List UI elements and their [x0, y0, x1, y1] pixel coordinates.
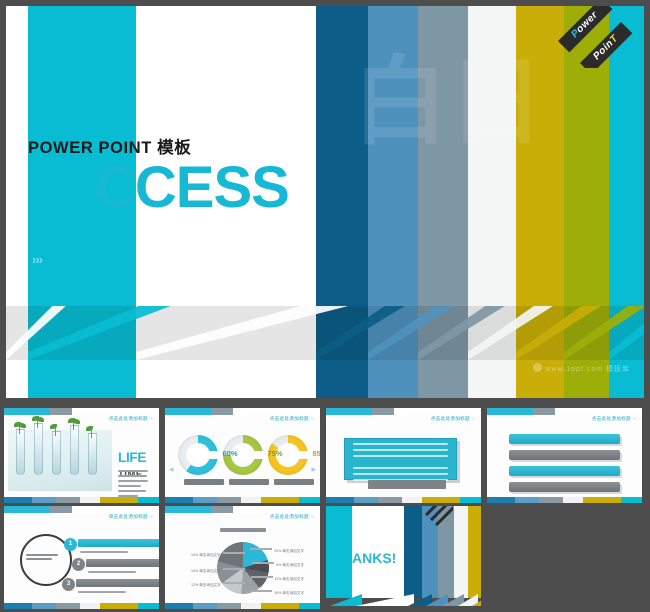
- floor-segment: [136, 360, 316, 398]
- step-bar-2[interactable]: [86, 559, 159, 567]
- strip-segment: [80, 603, 101, 609]
- hero-headline: CCESS: [94, 154, 289, 221]
- thumb-footer-strip: [4, 497, 159, 503]
- thumbnail-gauges[interactable]: 点击此处添加标题››› ◂ ▸ 60% 75%: [165, 408, 320, 503]
- thumbnail-bars[interactable]: 点击此处添加标题›››: [487, 408, 642, 503]
- textbox-line: [353, 473, 448, 475]
- thanks-floor: [326, 592, 481, 606]
- strip-segment: [72, 408, 159, 415]
- thumb-header-label: 点击此处添加标题›››: [109, 416, 153, 422]
- thumb-body: [487, 424, 642, 495]
- strip-segment: [4, 497, 32, 503]
- strip-segment: [217, 603, 241, 609]
- strip-segment: [32, 497, 56, 503]
- thanks-stripe: [326, 506, 352, 598]
- strip-segment: [50, 506, 72, 513]
- thumb-body: LIFE TIME: [4, 424, 159, 495]
- strip-segment: [460, 497, 481, 503]
- thumb-top-strip: [4, 506, 159, 513]
- step-subtext-2: [88, 571, 136, 573]
- thumb-header-label: 点击此处添加标题›››: [270, 416, 314, 422]
- step-number-2: 2: [72, 558, 85, 571]
- strip-segment: [138, 603, 159, 609]
- strip-segment: [515, 497, 539, 503]
- strip-segment: [299, 603, 320, 609]
- thumb-footer-strip: [4, 603, 159, 609]
- pie-legend-item: 12% 单击添加文字: [191, 582, 247, 588]
- textbox-line: [353, 443, 448, 445]
- gauge-label: [184, 479, 224, 485]
- strip-segment: [80, 497, 101, 503]
- thanks-floor-seg: [356, 594, 414, 606]
- strip-segment: [282, 497, 299, 503]
- strip-segment: [138, 497, 159, 503]
- thanks-stripe: [468, 506, 481, 598]
- strip-segment: [241, 603, 262, 609]
- strip-segment: [32, 603, 56, 609]
- thumb-footer-strip: [326, 497, 481, 503]
- strip-segment: [165, 408, 211, 415]
- pie-legend-item: 14% 单击添加文字: [191, 568, 247, 574]
- watermark-dot-icon: [533, 363, 542, 372]
- strip-segment: [233, 506, 320, 513]
- thumbnail-steps[interactable]: 单击此处添加标题››› 1 2 3: [4, 506, 159, 609]
- strip-segment: [402, 497, 423, 503]
- thumb-top-strip: [165, 506, 320, 513]
- gauge-percent: 60%: [222, 449, 237, 458]
- floor-segment: [418, 360, 468, 398]
- chevron-right-icon: ›››: [32, 252, 42, 267]
- strip-segment: [282, 603, 299, 609]
- strip-segment: [555, 408, 642, 415]
- strip-segment: [211, 408, 233, 415]
- strip-segment: [121, 603, 138, 609]
- thumbnail-textbox[interactable]: 点击此处添加标题›››: [326, 408, 481, 503]
- gauge-label: [229, 479, 269, 485]
- floor-segment: [316, 360, 368, 398]
- step-bar-1[interactable]: [78, 539, 159, 547]
- strip-segment: [372, 408, 394, 415]
- add-content-button[interactable]: [368, 480, 446, 489]
- thumb-top-strip: [4, 408, 159, 415]
- strip-segment: [241, 497, 262, 503]
- thumb-top-strip: [487, 408, 642, 415]
- strip-segment: [4, 506, 50, 513]
- main-slide-preview[interactable]: 白日 POWER POINT 模板 CCESS ››› Power PoinT …: [6, 6, 644, 398]
- strip-segment: [56, 603, 80, 609]
- perspective-floor: [6, 306, 644, 398]
- powerpoint-badge: Power PoinT: [552, 6, 644, 68]
- thanks-floor-seg: [330, 594, 362, 606]
- strip-segment: [443, 497, 460, 503]
- gauge-item: 75%: [223, 435, 263, 485]
- strip-segment: [533, 408, 555, 415]
- content-textbox[interactable]: [344, 438, 457, 480]
- slide-preview-page: 白日 POWER POINT 模板 CCESS ››› Power PoinT …: [0, 0, 650, 612]
- strip-segment: [100, 497, 121, 503]
- strip-segment: [211, 506, 233, 513]
- strip-segment: [354, 497, 378, 503]
- thumb-header-label: 点击此处添加标题›››: [431, 416, 475, 422]
- thumb-top-strip: [165, 408, 320, 415]
- thanks-stripe: [404, 506, 422, 598]
- strip-segment: [72, 506, 159, 513]
- strip-segment: [50, 408, 72, 415]
- thumb-body: 14% 单击添加文字 14% 单击添加文字 12% 单击添加文字 20% 单击添…: [165, 522, 320, 601]
- site-watermark: www.1ppt.com 模板库: [533, 363, 630, 374]
- bar-item[interactable]: [509, 434, 620, 444]
- thumbnail-grid: 点击此处添加标题››› LIFE TIME: [0, 404, 650, 612]
- strip-segment: [4, 408, 50, 415]
- thumb-header-label: 点击此处添加标题›››: [592, 416, 636, 422]
- thanks-stripe: [454, 506, 468, 598]
- pie-legend-item: 8% 单击添加文字: [250, 562, 304, 568]
- gauge-group: 60% 75% 85%: [165, 424, 320, 495]
- bar-item[interactable]: [509, 466, 620, 476]
- strip-segment: [56, 497, 80, 503]
- pie-legend-item: 16% 单击添加文字: [248, 590, 304, 596]
- strip-segment: [261, 497, 282, 503]
- bar-item[interactable]: [509, 482, 620, 492]
- thumbnail-thanks[interactable]: ANKS!: [326, 506, 481, 609]
- thumb-footer-strip: [165, 603, 320, 609]
- thanks-badge-icon: [423, 506, 453, 528]
- thumb-header-label: 单击此处添加标题›››: [109, 514, 153, 520]
- strip-segment: [563, 497, 584, 503]
- thumb-footer-strip: [165, 497, 320, 503]
- strip-segment: [539, 497, 563, 503]
- gauge-item: 60%: [178, 435, 218, 485]
- thumb-body: 1 2 3: [4, 522, 159, 601]
- pie-legend-item: 11% 单击添加文字: [249, 576, 305, 582]
- thumb-footer-strip: [487, 497, 642, 503]
- strip-segment: [394, 408, 481, 415]
- body-text-lines: [118, 470, 151, 500]
- pie-chart-title: [220, 528, 266, 532]
- strip-segment: [621, 497, 642, 503]
- strip-segment: [217, 497, 241, 503]
- textbox-line: [353, 449, 448, 451]
- thumb-body: [326, 424, 481, 495]
- strip-segment: [165, 603, 193, 609]
- strip-segment: [100, 603, 121, 609]
- thanks-headline: ANKS!: [352, 550, 396, 566]
- strip-segment: [583, 497, 604, 503]
- strip-segment: [422, 497, 443, 503]
- gauge-label: [274, 479, 314, 485]
- step-bar-3[interactable]: [76, 579, 159, 587]
- strip-segment: [378, 497, 402, 503]
- strip-segment: [299, 497, 320, 503]
- step-number-3: 3: [62, 578, 75, 591]
- gauge-percent: 85%: [312, 449, 320, 458]
- floor-segment: [6, 360, 28, 398]
- strip-segment: [193, 497, 217, 503]
- strip-segment: [487, 497, 515, 503]
- strip-segment: [165, 497, 193, 503]
- strip-segment: [261, 603, 282, 609]
- strip-segment: [233, 408, 320, 415]
- floor-segment: [468, 360, 516, 398]
- strip-segment: [604, 497, 621, 503]
- bar-item[interactable]: [509, 450, 620, 460]
- strip-segment: [121, 497, 138, 503]
- thumb-top-strip: [326, 408, 481, 415]
- pie-legend-item: 14% 单击添加文字: [191, 552, 247, 558]
- gauge-percent: 75%: [267, 449, 282, 458]
- step-subtext-1: [80, 551, 128, 553]
- thumbnail-pie[interactable]: 点击此处添加标题››› 14% 单击添加文字 14% 单击添加文字 12% 单击…: [165, 506, 320, 609]
- floor-segment: [368, 360, 418, 398]
- strip-segment: [4, 603, 32, 609]
- strip-segment: [193, 603, 217, 609]
- floor-segment: [28, 360, 136, 398]
- pie-legend-item: 20% 单击添加文字: [248, 548, 304, 554]
- step-number-1: 1: [64, 538, 77, 551]
- thumb-header-label: 点击此处添加标题›››: [270, 514, 314, 520]
- ring-center-label: [26, 554, 66, 562]
- strip-segment: [326, 408, 372, 415]
- strip-segment: [487, 408, 533, 415]
- textbox-line: [353, 467, 448, 469]
- bar-list: [509, 434, 620, 498]
- strip-segment: [326, 497, 354, 503]
- strip-segment: [165, 506, 211, 513]
- textbox-line: [353, 455, 448, 457]
- thumbnail-life-time[interactable]: 点击此处添加标题››› LIFE TIME: [4, 408, 159, 503]
- gauge-item: 85%: [268, 435, 308, 485]
- plant-photo: [8, 430, 112, 491]
- thumb-body: ◂ ▸ 60% 75% 85%: [165, 424, 320, 495]
- step-subtext-3: [78, 591, 126, 593]
